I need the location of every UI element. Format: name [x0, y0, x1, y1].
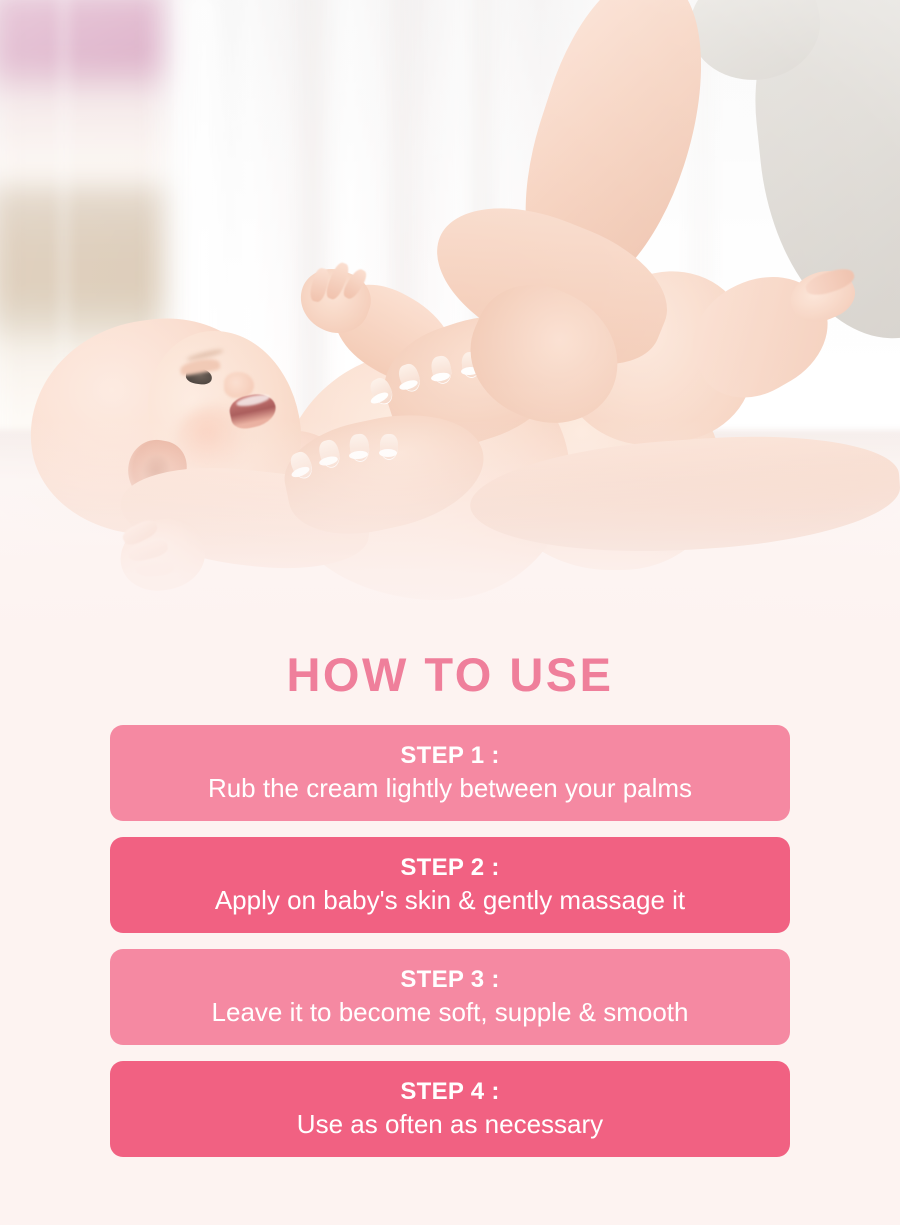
adult-fingernail-tip [379, 449, 397, 457]
instructions-section: HOW TO USE STEP 1 : Rub the cream lightl… [0, 620, 900, 1157]
step-card-2: STEP 2 : Apply on baby's skin & gently m… [110, 837, 790, 933]
baby-nose [224, 372, 254, 398]
step-text-3: Leave it to become soft, supple & smooth [212, 997, 689, 1028]
how-to-use-poster: HOW TO USE STEP 1 : Rub the cream lightl… [0, 0, 900, 1225]
step-text-1: Rub the cream lightly between your palms [208, 773, 692, 804]
step-card-4: STEP 4 : Use as often as necessary [110, 1061, 790, 1157]
step-text-2: Apply on baby's skin & gently massage it [215, 885, 685, 916]
steps-list: STEP 1 : Rub the cream lightly between y… [0, 725, 900, 1157]
photo-scene [0, 0, 900, 640]
step-label-2: STEP 2 : [400, 854, 499, 882]
step-text-4: Use as often as necessary [297, 1109, 603, 1140]
step-card-3: STEP 3 : Leave it to become soft, supple… [110, 949, 790, 1045]
hero-photo [0, 0, 900, 640]
step-label-3: STEP 3 : [400, 966, 499, 994]
step-card-1: STEP 1 : Rub the cream lightly between y… [110, 725, 790, 821]
step-label-4: STEP 4 : [400, 1078, 499, 1106]
section-headline: HOW TO USE [0, 620, 900, 699]
step-label-1: STEP 1 : [400, 742, 499, 770]
